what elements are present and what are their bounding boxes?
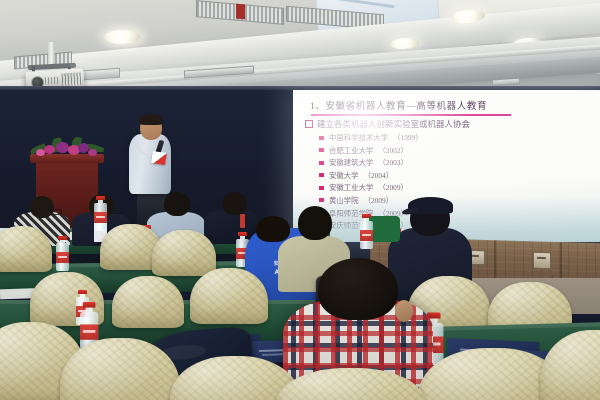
bottle-label	[94, 212, 107, 223]
ceiling	[0, 0, 600, 96]
attendee-head	[298, 206, 332, 240]
water-bottle	[360, 214, 373, 249]
attendee-head	[164, 192, 190, 216]
projector-controls	[45, 77, 59, 85]
water-bottle	[94, 196, 107, 231]
lanyard-badge	[240, 214, 245, 228]
flower	[36, 149, 45, 156]
chair	[112, 276, 184, 328]
glasses-icon	[50, 209, 62, 215]
microphone-flag	[151, 151, 167, 165]
attendee-hand	[395, 300, 413, 322]
flower	[88, 149, 97, 156]
attendee-dark-suit	[204, 192, 260, 240]
glasses-icon	[110, 208, 123, 214]
attendee-head	[318, 258, 398, 320]
list-item-year: （2009）	[378, 182, 408, 193]
flower	[56, 142, 69, 153]
chair	[152, 230, 216, 276]
wall-outlet	[533, 252, 551, 270]
bottle-body	[360, 221, 373, 249]
floral-arrangement	[28, 136, 108, 162]
vent-marker	[236, 4, 245, 20]
presenter-hair	[139, 114, 163, 125]
chair	[190, 268, 268, 324]
glasses-icon	[185, 206, 198, 212]
bottle-body	[56, 243, 69, 271]
water-bottle	[56, 236, 69, 271]
attendee-head	[222, 192, 247, 215]
screen-glare	[293, 90, 473, 180]
bottle-label	[360, 230, 373, 241]
flower	[44, 145, 55, 154]
bottle-label	[80, 324, 98, 339]
ceiling-light	[104, 30, 140, 44]
list-item: 安徽工业大学 （2009）	[319, 182, 594, 193]
projector-vent	[62, 72, 82, 86]
outlet-slot	[537, 257, 546, 259]
conference-room-photo: 1、安徽省机器人教育—高等机器人教育 建立各类机器人创新实验室或机器人协会 中国…	[0, 0, 600, 400]
bottle-body	[94, 203, 107, 231]
list-item-name: 安徽工业大学	[329, 182, 373, 193]
square-bullet-icon	[319, 186, 324, 190]
bottle-label	[56, 252, 69, 263]
